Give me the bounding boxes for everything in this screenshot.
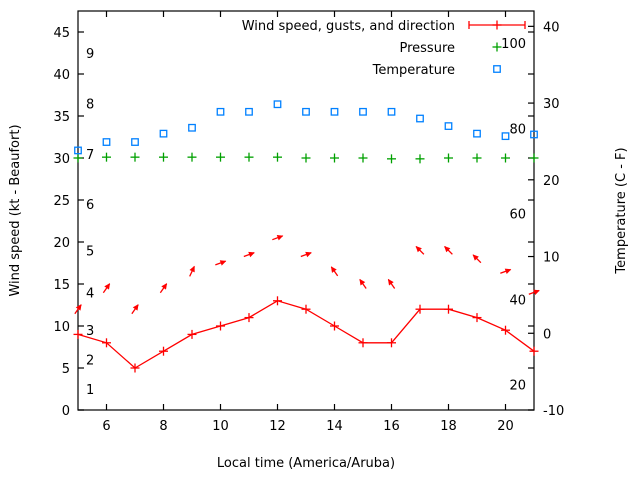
y-tick-label: 30 bbox=[53, 152, 70, 167]
beaufort-label: 2 bbox=[86, 354, 94, 369]
legend-label: Wind speed, gusts, and direction bbox=[242, 19, 455, 34]
chart-canvas: 051015202530354045 -10010203040 68101214… bbox=[0, 0, 640, 480]
y2-tick-label: 10 bbox=[543, 251, 560, 266]
fahrenheit-label: 100 bbox=[501, 37, 526, 52]
beaufort-label: 4 bbox=[86, 286, 94, 301]
x-tick-label: 6 bbox=[102, 419, 110, 434]
x-tick-label: 14 bbox=[326, 419, 343, 434]
y2-axis-label: Temperature (C - F) bbox=[614, 147, 629, 274]
y-tick-label: 15 bbox=[53, 278, 70, 293]
beaufort-label: 6 bbox=[86, 198, 94, 213]
x-tick-label: 20 bbox=[497, 419, 514, 434]
x-tick-label: 10 bbox=[212, 419, 229, 434]
beaufort-label: 1 bbox=[86, 383, 94, 398]
y2-tick-label: -10 bbox=[543, 404, 564, 419]
beaufort-label: 8 bbox=[86, 97, 94, 112]
fahrenheit-label: 60 bbox=[509, 208, 526, 223]
x-tick-label: 16 bbox=[383, 419, 400, 434]
y-tick-label: 5 bbox=[62, 362, 70, 377]
x-tick-label: 18 bbox=[440, 419, 457, 434]
beaufort-label: 7 bbox=[86, 148, 94, 163]
y-tick-label: 35 bbox=[53, 110, 70, 125]
beaufort-label: 5 bbox=[86, 244, 94, 259]
y-tick-label: 0 bbox=[62, 404, 70, 419]
y2-tick-label: 0 bbox=[543, 327, 551, 342]
y2-tick-label: 30 bbox=[543, 97, 560, 112]
y-tick-label: 45 bbox=[53, 26, 70, 41]
y-axis-label: Wind speed (kt - Beaufort) bbox=[8, 124, 23, 296]
weather-chart: 051015202530354045 -10010203040 68101214… bbox=[0, 0, 640, 480]
legend-label: Temperature bbox=[372, 63, 455, 78]
y-tick-label: 20 bbox=[53, 236, 70, 251]
fahrenheit-label: 80 bbox=[509, 122, 526, 137]
x-tick-label: 8 bbox=[159, 419, 167, 434]
fahrenheit-label: 40 bbox=[509, 294, 526, 309]
y-tick-label: 25 bbox=[53, 194, 70, 209]
beaufort-label: 9 bbox=[86, 47, 94, 62]
y-tick-label: 40 bbox=[53, 68, 70, 83]
y2-tick-label: 20 bbox=[543, 174, 560, 189]
y2-tick-label: 40 bbox=[543, 20, 560, 35]
legend-label: Pressure bbox=[399, 41, 455, 56]
x-axis-label: Local time (America/Aruba) bbox=[217, 456, 395, 471]
x-tick-label: 12 bbox=[269, 419, 286, 434]
y-tick-label: 10 bbox=[53, 320, 70, 335]
fahrenheit-label: 20 bbox=[509, 379, 526, 394]
